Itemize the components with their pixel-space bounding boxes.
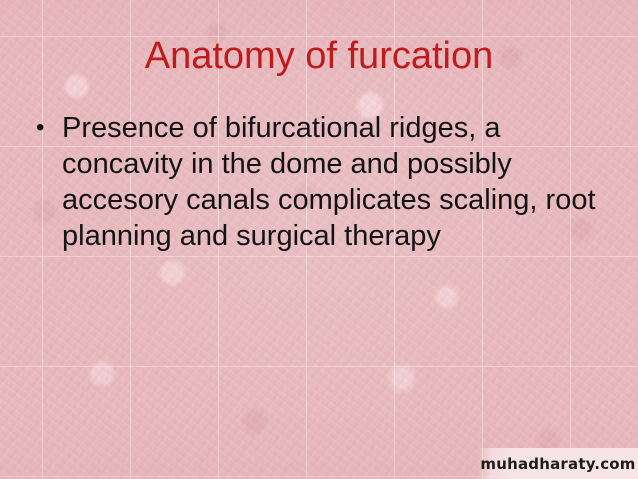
bullet-line: concavity in the dome and possibly <box>62 146 596 182</box>
bullet-line: Presence of bifurcational ridges, a <box>62 110 596 146</box>
bullet-line: planning and surgical therapy <box>62 218 596 254</box>
slide-canvas: Anatomy of furcation • Presence of bifur… <box>0 0 638 479</box>
slide-body: • Presence of bifurcational ridges, a co… <box>30 110 575 254</box>
watermark-label: muhadharaty.com <box>480 455 635 473</box>
bullet-line: accesory canals complicates scaling, roo… <box>62 182 596 218</box>
bullet-marker-icon: • <box>30 110 62 146</box>
bullet-text: Presence of bifurcational ridges, a conc… <box>62 110 596 254</box>
watermark-banner: muhadharaty.com <box>478 448 638 479</box>
bullet-item: • Presence of bifurcational ridges, a co… <box>30 110 575 254</box>
slide-title: Anatomy of furcation <box>0 34 638 78</box>
